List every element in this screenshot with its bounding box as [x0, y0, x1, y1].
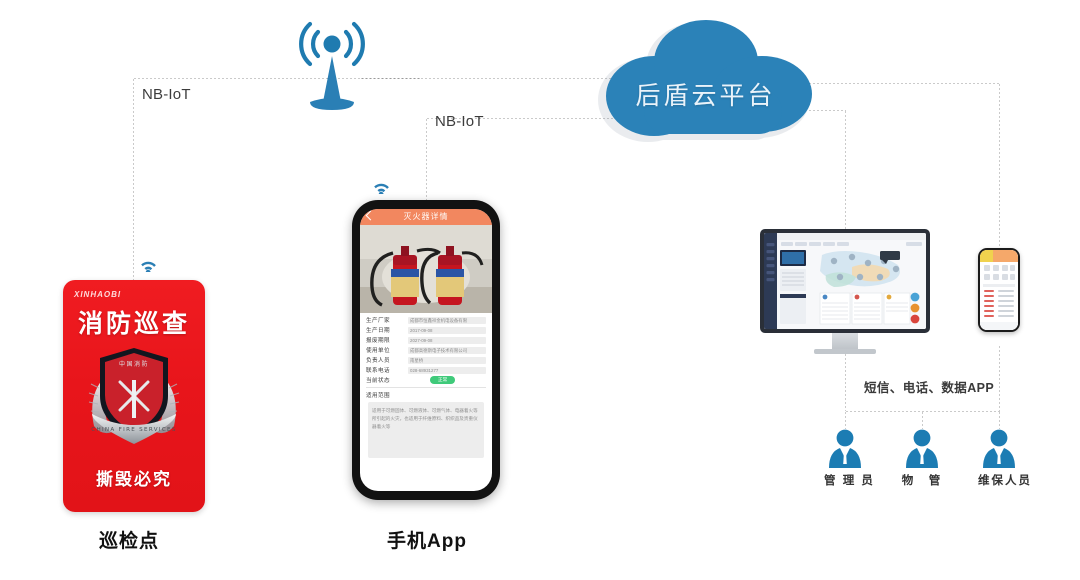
role-label: 管 理 员 [824, 472, 875, 488]
field-label: 联系电话 [366, 366, 408, 374]
person-icon [824, 428, 866, 470]
connector-cloud-to-mobile-horizontal [800, 83, 1000, 84]
app-header: 灭火器详情 [360, 209, 492, 225]
app-header-title: 灭火器详情 [360, 211, 492, 222]
field-value: 成都市恒鑫祥金机电设备有限 [408, 317, 486, 324]
person-icon [901, 428, 943, 470]
detail-field-list: 生产厂家 成都市恒鑫祥金机电设备有限 生产日期 2017-09-08 报废期限 … [360, 313, 492, 458]
detail-row-status: 当前状态 正常 [366, 376, 486, 384]
field-label: 负责人员 [366, 356, 408, 364]
mobile-dashboard-phone[interactable] [978, 248, 1020, 332]
role-administrator: 管 理 员 [824, 428, 875, 488]
label-notification-channels: 短信、电话、数据APP [864, 377, 994, 396]
scope-section-label: 适用范围 [366, 387, 486, 399]
detail-row: 负责人员 南星桥 [366, 356, 486, 364]
role-property-management: 物 管 [901, 428, 943, 488]
phone-signal-icon [374, 174, 396, 199]
card-brand-logo: XINHAOBI [74, 290, 121, 299]
field-value: 028-68931277 [408, 367, 486, 374]
monitor-stand-neck [832, 333, 858, 349]
field-label: 生产厂家 [366, 316, 408, 324]
detail-row: 生产厂家 成都市恒鑫祥金机电设备有限 [366, 316, 486, 324]
field-label: 使用单位 [366, 346, 408, 354]
card-title: 消防巡查 [63, 304, 205, 340]
role-label: 物 管 [901, 472, 943, 488]
detail-row: 报废期限 2027-09-08 [366, 336, 486, 344]
monitor-screen [764, 233, 926, 329]
svg-text:CHINA FIRE SERVICES: CHINA FIRE SERVICES [91, 427, 176, 433]
monitor-stand-base [814, 349, 876, 354]
field-value: 2017-09-08 [408, 327, 486, 334]
connector-role-2-branch [922, 411, 923, 429]
connector-monitor-vertical-bottom [845, 345, 846, 411]
scope-description: 适用于可燃固体、可燃液体、可燃气体、电器着火等所引起的火灾，也适用于纤维原料、织… [368, 402, 484, 458]
status-label: 当前状态 [366, 376, 408, 384]
connector-mobile-vertical-bottom [999, 345, 1000, 411]
role-label: 维保人员 [978, 472, 1032, 488]
mobile-dashboard-screen [980, 250, 1018, 330]
card-signal-icon [141, 252, 163, 277]
connector-mobile-vertical-top [999, 83, 1000, 248]
field-value: 南星桥 [408, 357, 486, 364]
field-label: 生产日期 [366, 326, 408, 334]
detail-row: 联系电话 028-68931277 [366, 366, 486, 374]
svg-text:中国消防: 中国消防 [119, 360, 149, 368]
extinguisher-photo [360, 225, 492, 313]
detail-row: 生产日期 2017-09-08 [366, 326, 486, 334]
detail-row: 使用单位 成都高德斯电子技术有限公司 [366, 346, 486, 354]
role-maintenance-staff: 维保人员 [978, 428, 1032, 488]
inspection-point-card[interactable]: XINHAOBI 消防巡查 [63, 280, 205, 512]
china-fire-services-emblem: 中国消防 CHINA FIRE SERVICES [82, 340, 186, 452]
label-nb-iot-middle: NB-IoT [435, 113, 484, 130]
person-icon [978, 428, 1020, 470]
status-badge: 正常 [430, 376, 455, 384]
diagram-canvas: NB-IoT NB-IoT 短信、电话、数据APP [0, 0, 1080, 580]
connector-card-vertical [133, 78, 134, 288]
field-label: 报废期限 [366, 336, 408, 344]
connector-monitor-vertical-top [845, 110, 846, 230]
cloud-platform-label: 后盾云平台 [588, 76, 823, 112]
label-nb-iot-left: NB-IoT [142, 86, 191, 103]
mobile-app-phone[interactable]: 灭火器详情 [352, 200, 500, 500]
desktop-monitor[interactable] [760, 229, 930, 339]
nb-iot-tower-icon [292, 18, 372, 118]
connector-role-1-branch [845, 411, 846, 429]
connector-role-3-branch [999, 411, 1000, 429]
card-footer-text: 撕毁必究 [63, 465, 205, 490]
cloud-platform: 后盾云平台 [588, 14, 823, 159]
caption-mobile-app: 手机App [387, 526, 467, 553]
caption-inspection-point: 巡检点 [99, 526, 159, 553]
field-value: 2027-09-08 [408, 337, 486, 344]
field-value: 成都高德斯电子技术有限公司 [408, 347, 486, 354]
